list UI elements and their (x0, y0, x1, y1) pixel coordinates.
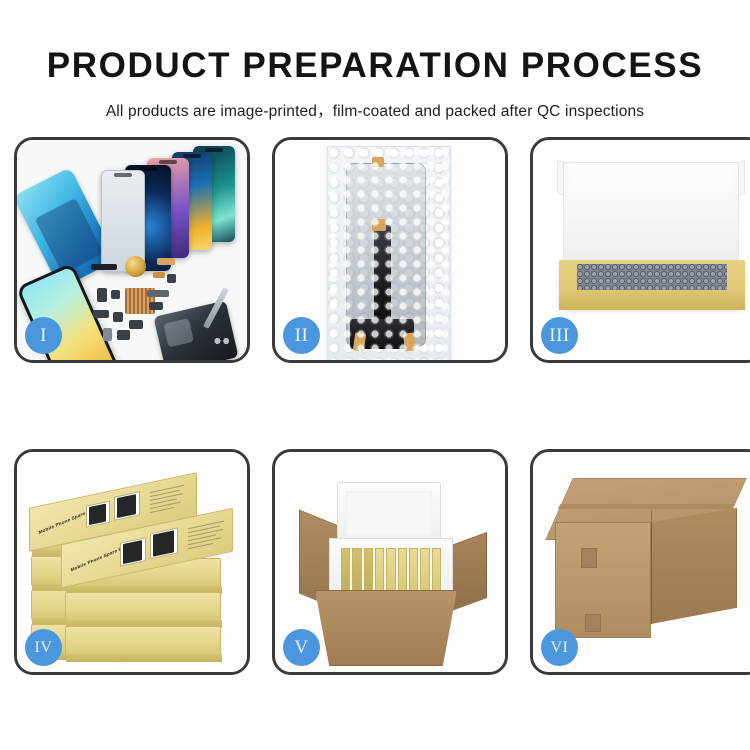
page-title: PRODUCT PREPARATION PROCESS (0, 0, 750, 83)
component-part-icon (167, 274, 176, 283)
tape-icon (403, 332, 416, 351)
foam-lid-icon (337, 482, 441, 544)
carton-front-face (555, 522, 651, 638)
step-numeral: V (294, 637, 308, 659)
component-part-icon (111, 290, 120, 299)
header: PRODUCT PREPARATION PROCESS All products… (0, 0, 750, 121)
page-subtitle: All products are image-printed，film-coat… (0, 83, 750, 121)
carton-tape-seam (558, 504, 734, 509)
carton-side-face (651, 508, 737, 624)
component-part-icon (157, 258, 175, 265)
screws-icon (213, 336, 235, 346)
step-numeral: III (549, 325, 569, 347)
vibration-motor-icon (125, 256, 146, 277)
step-numeral: II (295, 325, 309, 347)
process-step-panel-2[interactable]: II (272, 137, 508, 363)
component-part-icon (117, 330, 130, 340)
component-part-icon (153, 272, 165, 278)
packed-boxes-row (341, 548, 441, 594)
process-step-grid: I II (14, 137, 738, 675)
carton-edge-seam (651, 510, 652, 624)
component-part-icon (103, 328, 112, 341)
box-front-panel (559, 290, 745, 310)
step-badge-1: I (25, 317, 62, 354)
step-badge-3: III (541, 317, 578, 354)
tape-icon (372, 219, 386, 231)
carton-tape-patch (585, 614, 601, 632)
component-part-icon (97, 288, 107, 302)
bubble-wrap-bag-icon (327, 146, 451, 360)
step-numeral: I (40, 325, 47, 347)
process-step-panel-4[interactable]: Mobile Phone Spare Parts (14, 449, 250, 675)
component-part-icon (91, 264, 117, 270)
carton-body-icon (315, 590, 457, 666)
step-numeral: IV (35, 639, 53, 657)
step-badge-5: V (283, 629, 320, 666)
step-numeral: VI (551, 639, 569, 657)
tape-icon (372, 157, 384, 167)
process-step-panel-1[interactable]: I (14, 137, 250, 363)
step-badge-6: VI (541, 629, 578, 666)
product-preparation-process-infographic: PRODUCT PREPARATION PROCESS All products… (0, 0, 750, 750)
bubble-wrapped-contents-icon (577, 264, 727, 290)
stacked-box (65, 626, 221, 656)
component-part-icon (113, 312, 123, 322)
carton-tape-patch (581, 548, 597, 568)
step-badge-4: IV (25, 629, 62, 666)
phone-back-cover-icon (153, 300, 238, 360)
process-step-panel-3[interactable]: III (530, 137, 750, 363)
component-part-icon (93, 310, 109, 318)
process-step-panel-6[interactable]: VI (530, 449, 750, 675)
stacked-box (65, 592, 221, 622)
process-step-panel-5[interactable]: V (272, 449, 508, 675)
component-part-icon (129, 320, 143, 329)
component-part-icon (147, 290, 169, 297)
step-badge-2: II (283, 317, 320, 354)
foam-sheet-icon (567, 188, 735, 264)
component-part-icon (149, 302, 163, 310)
